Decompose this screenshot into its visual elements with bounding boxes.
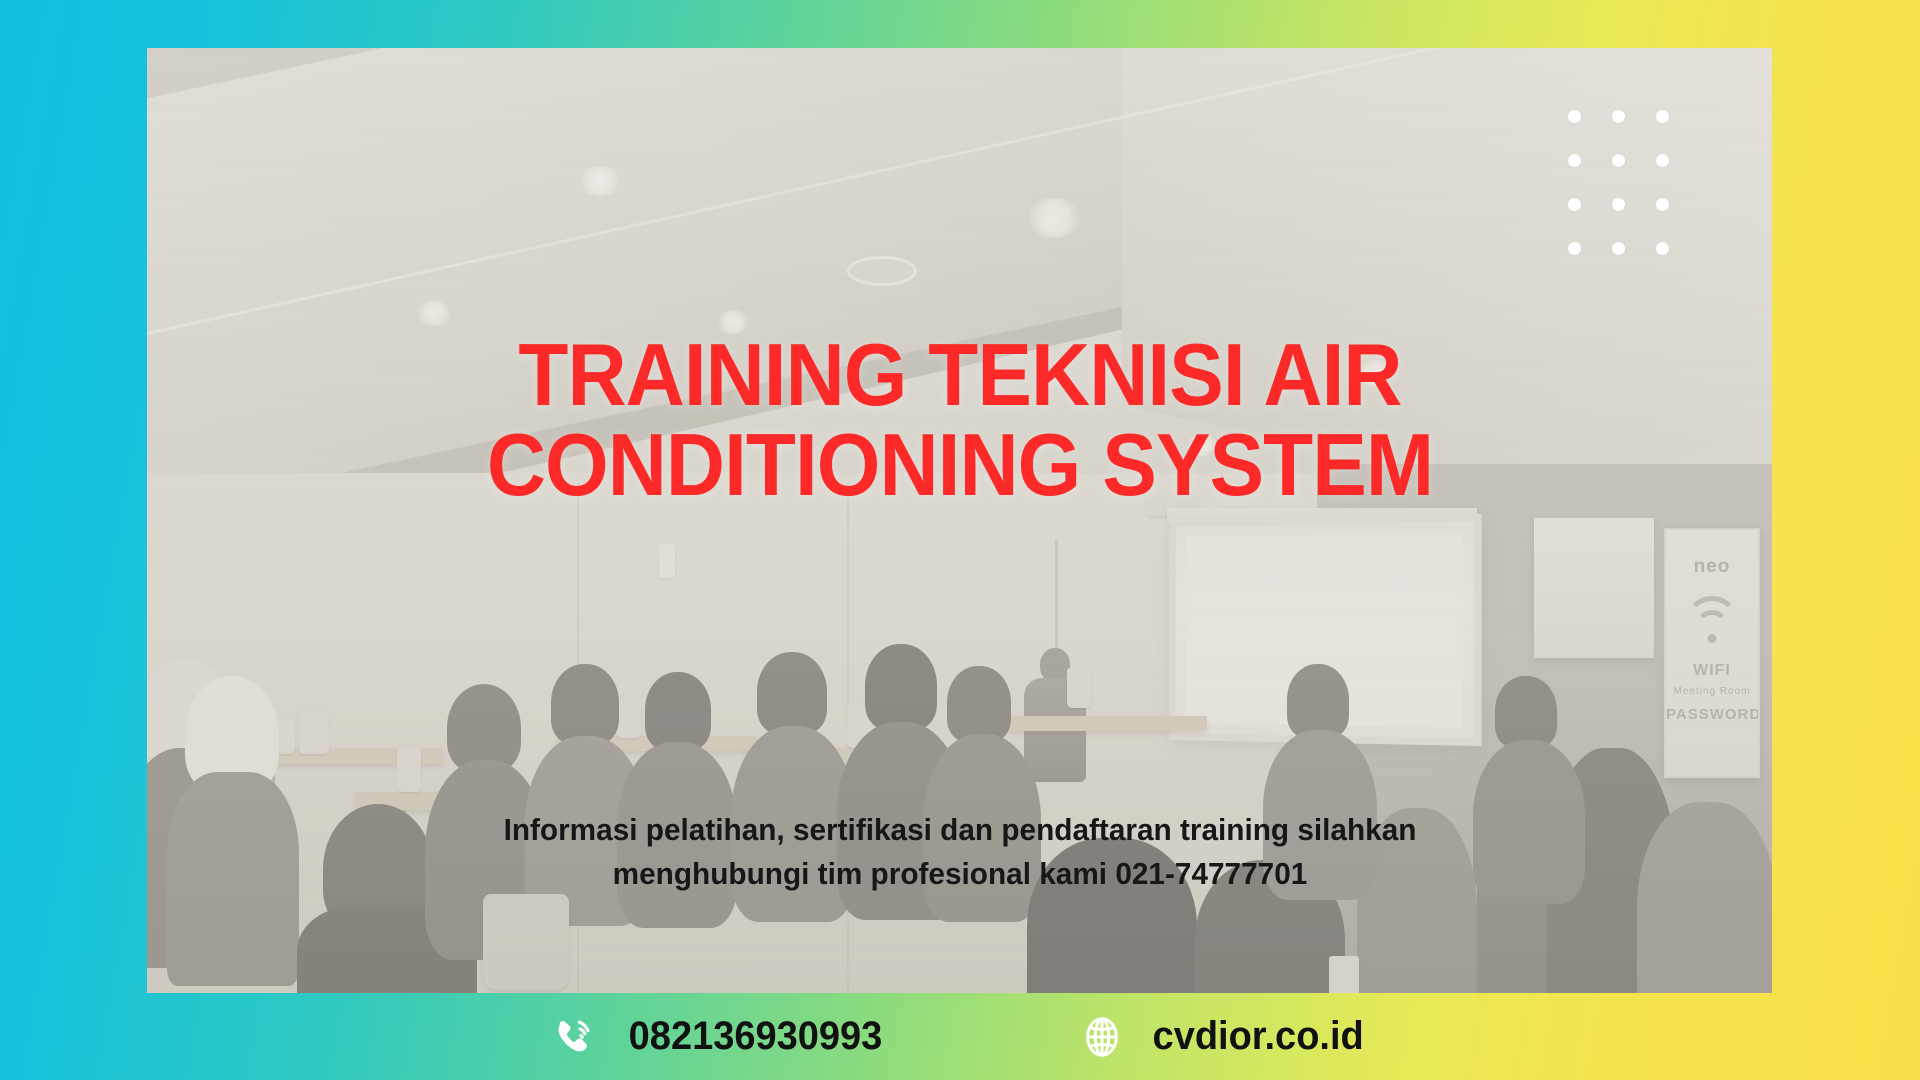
decor-dot [1656,198,1669,211]
page-title: TRAINING TEKNISI AIR CONDITIONING SYSTEM [67,330,1853,510]
decor-dot [1656,154,1669,167]
subtitle-line-2: menghubungi tim profesional kami 021-747… [384,852,1536,896]
decor-dot [1656,110,1669,123]
decor-dot [1612,242,1625,255]
decor-dot [1612,154,1625,167]
phone-number: 082136930993 [629,1014,883,1059]
decor-dot [1612,110,1625,123]
website-url: cvdior.co.id [1153,1014,1364,1059]
contact-website[interactable]: cvdior.co.id [1079,1014,1369,1060]
subtitle-line-1: Informasi pelatihan, sertifikasi dan pen… [384,808,1536,852]
contact-phone[interactable]: 082136930993 [550,1012,889,1062]
dot-grid-decoration [1568,110,1700,286]
decor-dot [1656,242,1669,255]
title-line-1: TRAINING TEKNISI AIR [67,330,1853,420]
globe-icon [1079,1014,1125,1060]
decor-dot [1568,154,1581,167]
poster-subtitle: Informasi pelatihan, sertifikasi dan pen… [384,808,1536,896]
contact-bar: 082136930993 cvdior.co.id [0,993,1920,1080]
decor-dot [1568,242,1581,255]
title-line-2: CONDITIONING SYSTEM [67,420,1853,510]
phone-icon [550,1012,600,1062]
decor-dot [1568,198,1581,211]
decor-dot [1568,110,1581,123]
decor-dot [1612,198,1625,211]
